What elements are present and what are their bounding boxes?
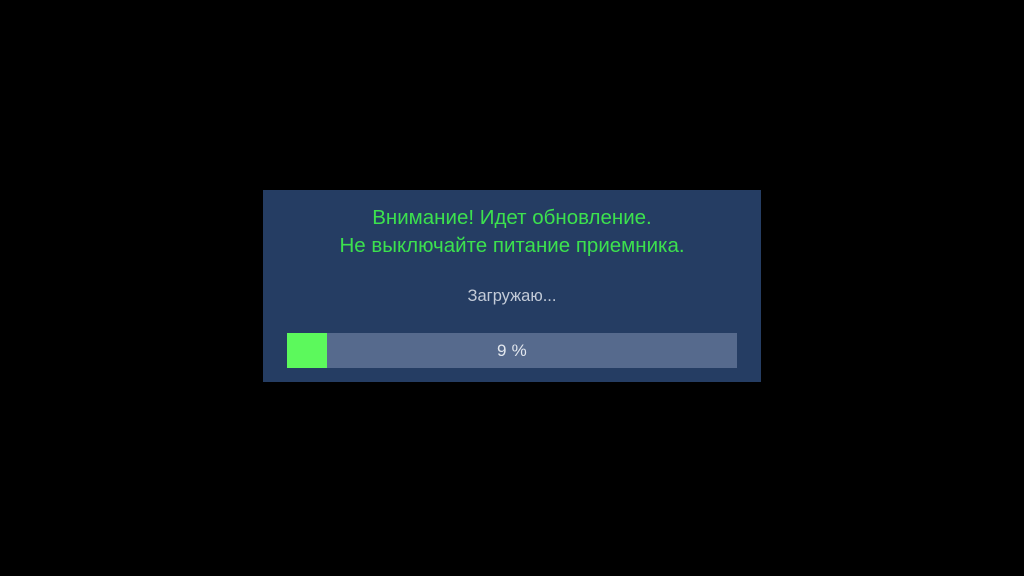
progress-percent-label: 9 % xyxy=(287,333,737,368)
progress-bar: 9 % xyxy=(287,333,737,368)
status-text: Загружаю... xyxy=(263,285,761,307)
screen-background: Внимание! Идет обновление. Не выключайте… xyxy=(0,0,1024,576)
warning-message-line-2: Не выключайте питание приемника. xyxy=(263,232,761,260)
firmware-update-dialog: Внимание! Идет обновление. Не выключайте… xyxy=(263,190,761,382)
warning-message-line-1: Внимание! Идет обновление. xyxy=(263,204,761,232)
warning-message: Внимание! Идет обновление. Не выключайте… xyxy=(263,204,761,260)
